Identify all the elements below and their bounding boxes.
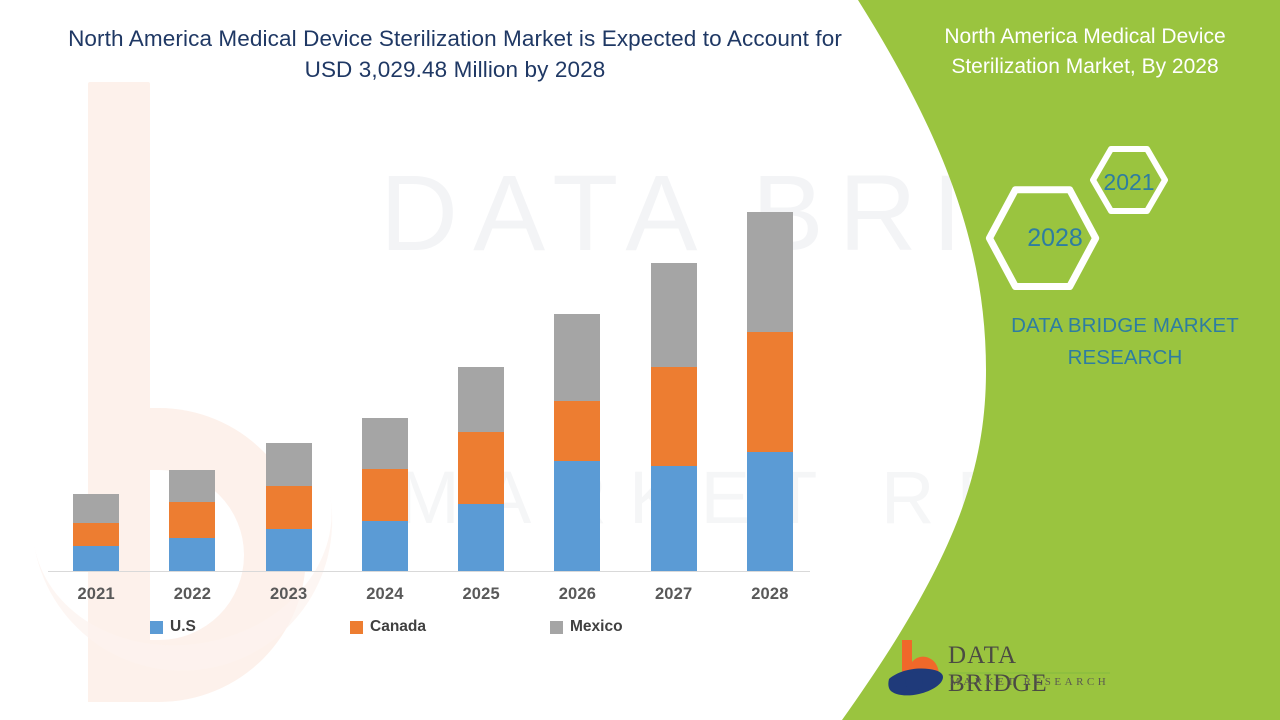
bar-stack[interactable] [266,443,312,571]
bar-segment[interactable] [266,486,312,529]
bar-stack[interactable] [362,418,408,571]
logo-subtitle: MARKET RESEARCH [950,676,1109,688]
x-axis-label: 2022 [144,585,240,604]
brand-name-text: DATA BRIDGE MARKET RESEARCH [980,310,1270,374]
company-logo: DATA BRIDGE MARKET RESEARCH [888,638,1118,704]
legend-label: Mexico [570,618,623,636]
bar-stack[interactable] [747,212,793,571]
bar-segment[interactable] [554,314,600,401]
logo-divider-rule [950,672,1110,674]
bar-group [722,101,818,571]
chart-legend: U.SCanadaMexico [150,618,750,636]
bar-segment[interactable] [747,452,793,571]
logo-wordmark: DATA BRIDGE [948,642,1118,698]
x-axis-label: 2027 [626,585,722,604]
bar-segment[interactable] [266,443,312,486]
legend-item[interactable]: U.S [150,618,350,636]
bar-segment[interactable] [169,470,215,502]
bar-segment[interactable] [747,212,793,332]
legend-label: Canada [370,618,426,636]
bar-segment[interactable] [651,367,697,466]
x-axis-label: 2023 [241,585,337,604]
legend-swatch-icon [550,621,563,634]
x-axis-label: 2025 [433,585,529,604]
bar-stack[interactable] [554,314,600,571]
bar-group [626,101,722,571]
bar-segment[interactable] [651,263,697,367]
bar-stack[interactable] [169,470,215,571]
x-axis-labels: 20212022202320242025202620272028 [48,585,818,604]
bar-segment[interactable] [554,401,600,461]
x-axis-label: 2021 [48,585,144,604]
bar-stack[interactable] [651,263,697,571]
bar-stack[interactable] [73,494,119,571]
brand-name-line1: DATA BRIDGE MARKET [1011,314,1239,337]
logo-mark-b-blue-inner [905,672,923,691]
bar-segment[interactable] [458,504,504,571]
bar-segment[interactable] [73,546,119,571]
bar-group [48,101,144,571]
bar-segment[interactable] [266,529,312,571]
bar-segment[interactable] [73,494,119,523]
bar-segment[interactable] [362,469,408,521]
hexagon-badges: 2028 2021 [975,140,1195,290]
bar-group [337,101,433,571]
bar-segment[interactable] [169,538,215,571]
hexagon-large-label: 2028 [1027,224,1083,252]
bar-stack[interactable] [458,367,504,571]
hexagon-small-label: 2021 [1103,169,1154,195]
bar-segment[interactable] [458,432,504,504]
bar-series-container [48,101,818,571]
bar-segment[interactable] [169,502,215,538]
bar-segment[interactable] [73,523,119,546]
chart-plot-area [48,100,818,572]
x-axis-label: 2028 [722,585,818,604]
x-axis-label: 2024 [337,585,433,604]
x-axis-line [48,571,810,572]
panel-title: North America Medical Device Sterilizati… [900,22,1270,82]
legend-swatch-icon [350,621,363,634]
bar-segment[interactable] [554,461,600,571]
bar-segment[interactable] [651,466,697,571]
bar-segment[interactable] [458,367,504,432]
bar-segment[interactable] [362,521,408,571]
brand-name-line2: RESEARCH [1068,346,1183,369]
bar-group [529,101,625,571]
chart-title: North America Medical Device Sterilizati… [60,24,850,85]
legend-label: U.S [170,618,196,636]
legend-item[interactable]: Mexico [550,618,750,636]
bar-group [241,101,337,571]
slide-root: DATA BRIDGE MARKET RESEARCH North Americ… [0,0,1280,720]
legend-item[interactable]: Canada [350,618,550,636]
x-axis-label: 2026 [529,585,625,604]
bar-segment[interactable] [747,332,793,452]
bar-group [433,101,529,571]
bar-segment[interactable] [362,418,408,469]
legend-swatch-icon [150,621,163,634]
logo-mark-icon [888,638,944,700]
bar-group [144,101,240,571]
